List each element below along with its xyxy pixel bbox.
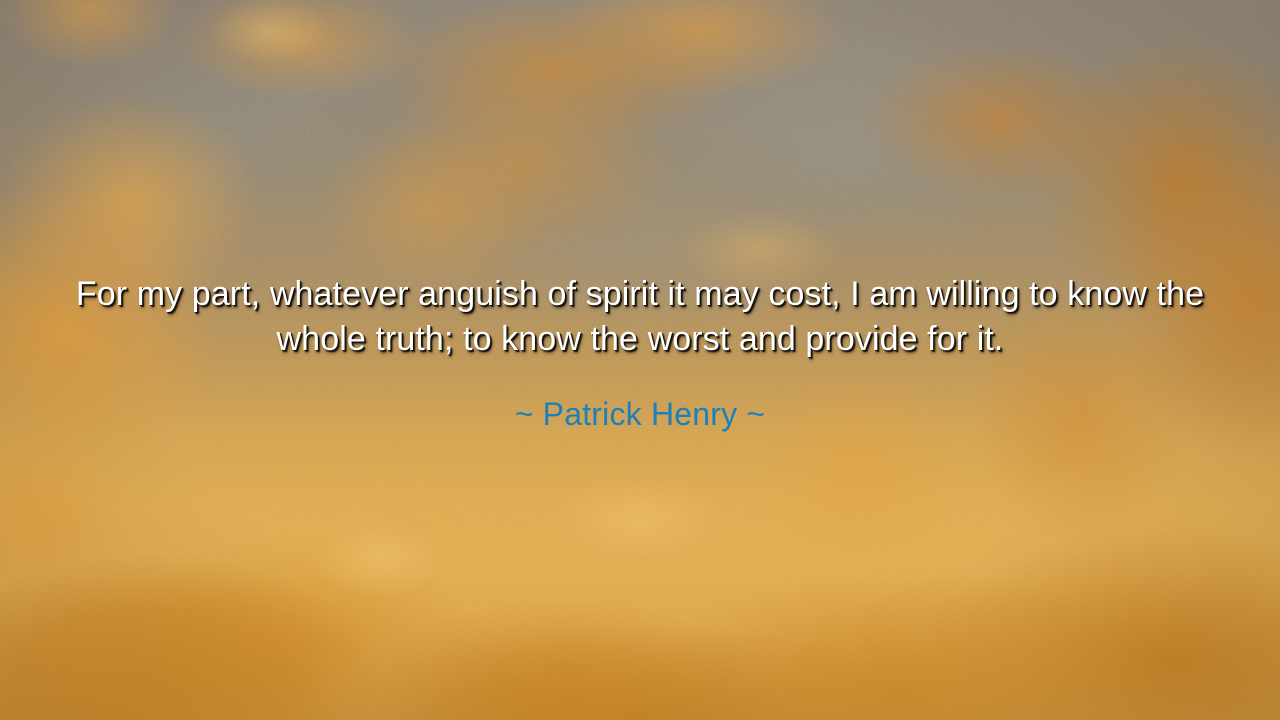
quote-attribution: ~ Patrick Henry ~ [64,362,1216,434]
quote-image-canvas: For my part, whatever anguish of spirit … [0,0,1280,720]
quote-text: For my part, whatever anguish of spirit … [64,272,1216,362]
quote-content-block: For my part, whatever anguish of spirit … [0,272,1280,434]
